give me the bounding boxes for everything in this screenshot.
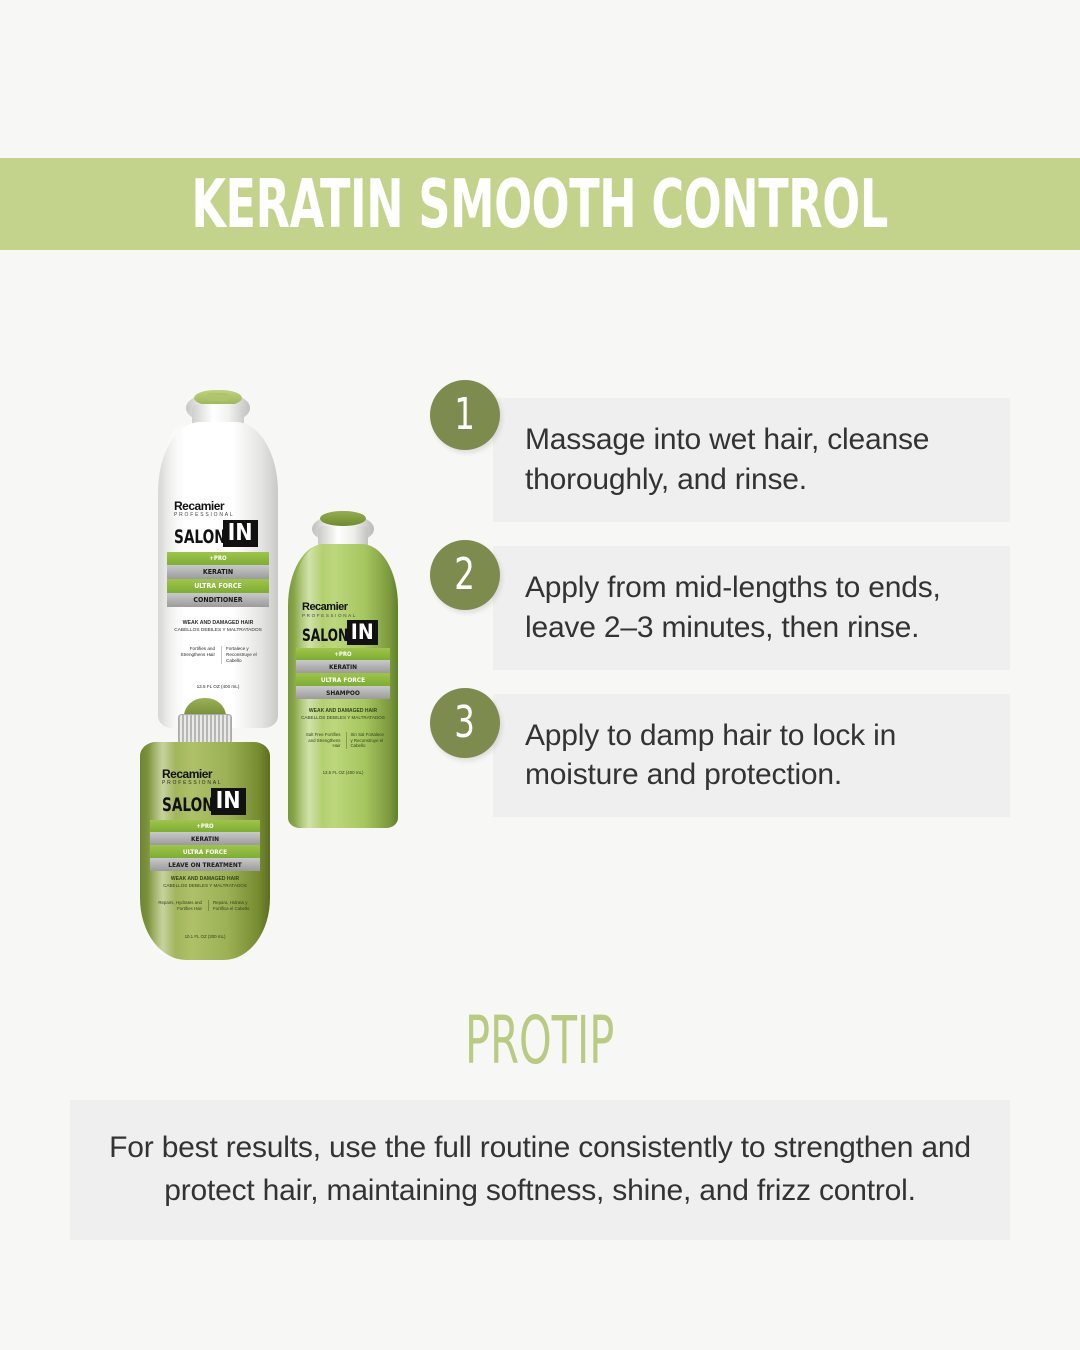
bottle-bar-ultraforce-treatment: ULTRA FORCE: [150, 845, 260, 858]
page-title: KERATIN SMOOTH CONTROL: [192, 171, 889, 238]
bottle-wordmark-in-treatment: IN: [211, 788, 246, 815]
step-item-1: 1 Massage into wet hair, cleanse thoroug…: [430, 398, 1010, 522]
product-bottle-leave-on-treatment: Recamier PROFESSIONAL SALON IN +PRO KERA…: [140, 698, 270, 960]
bottle-volume-conditioner: 13.5 FL OZ (400 mL): [158, 684, 278, 690]
product-bottle-shampoo: Recamier PROFESSIONAL SALON IN +PRO KERA…: [288, 508, 398, 828]
bottle-benefit-en-shampoo: Salt Free Fortifies and Strengthens Hair: [301, 732, 341, 749]
bottle-bar-type-conditioner: CONDITIONER: [167, 593, 269, 607]
bottle-bar-type-shampoo: SHAMPOO: [296, 686, 390, 699]
bottle-bar-keratin-shampoo: KERATIN: [296, 660, 390, 673]
bottle-benefit-es-shampoo: Sin Sal Fortalece y Reconstruye el Cabel…: [346, 732, 386, 749]
bottle-benefit-es-treatment: Repara, Hidrata y Fortifica el Cabello: [208, 900, 254, 911]
bottle-volume-shampoo: 13.5 FL OZ (400 mL): [288, 770, 398, 776]
bottle-volume-treatment: 10.1 FL OZ (300 mL): [140, 934, 270, 940]
bottle-wordmark-in-shampoo: IN: [347, 620, 378, 645]
step-number-2: 2: [455, 553, 476, 597]
bottle-collar-treatment: [178, 714, 232, 744]
step-number-badge-2: 2: [430, 540, 500, 610]
bottle-brand-conditioner: Recamier: [174, 500, 278, 512]
protip-heading: PROTIP: [0, 1008, 1080, 1074]
bottle-body-conditioner: Recamier PROFESSIONAL SALON IN +PRO KERA…: [158, 422, 278, 728]
protip-box: For best results, use the full routine c…: [70, 1100, 1010, 1240]
bottle-claim-en-conditioner: WEAK AND DAMAGED HAIR: [158, 620, 278, 627]
bottle-brand-treatment: Recamier: [162, 768, 270, 780]
bottle-brand-sub-conditioner: PROFESSIONAL: [174, 513, 278, 518]
bottle-benefit-es-conditioner: Fortalece y Reconstruye el Cabello: [221, 646, 265, 664]
bottle-wordmark-salon-shampoo: SALON: [302, 628, 348, 645]
bottle-claim-en-shampoo: WEAK AND DAMAGED HAIR: [288, 708, 398, 714]
bottle-wordmark-in-conditioner: IN: [223, 520, 258, 547]
step-item-3: 3 Apply to damp hair to lock in moisture…: [430, 694, 1010, 818]
bottle-bar-ultraforce-shampoo: ULTRA FORCE: [296, 673, 390, 686]
step-number-3: 3: [455, 701, 476, 745]
bottle-benefit-en-treatment: Repairs, Hydrates and Fortifies Hair: [156, 900, 202, 911]
bottle-bar-pro-conditioner: +PRO: [167, 552, 269, 565]
bottle-brand-sub-shampoo: PROFESSIONAL: [302, 614, 398, 619]
bottle-claim-es-conditioner: CABELLOS DEBILES Y MALTRATADOS: [158, 628, 278, 634]
step-text-box-3: Apply to damp hair to lock in moisture a…: [493, 694, 1010, 818]
bottle-bar-keratin-treatment: KERATIN: [150, 832, 260, 845]
protip-heading-text: PROTIP: [465, 1008, 614, 1074]
step-text-1: Massage into wet hair, cleanse thoroughl…: [525, 420, 984, 500]
step-number-1: 1: [455, 393, 476, 437]
bottle-benefit-en-conditioner: Fortifies and Strengthens Hair: [171, 646, 215, 664]
product-bottle-conditioner: Recamier PROFESSIONAL SALON IN +PRO KERA…: [158, 388, 278, 728]
protip-text: For best results, use the full routine c…: [70, 1127, 1010, 1212]
step-number-badge-3: 3: [430, 688, 500, 758]
header-banner: KERATIN SMOOTH CONTROL: [0, 158, 1080, 250]
bottle-wordmark-salon-conditioner: SALON: [174, 528, 226, 547]
bottle-claim-es-shampoo: CABELLOS DEBILES Y MALTRATADOS: [288, 715, 398, 721]
bottle-claim-es-treatment: CABELLOS DEBILES Y MALTRATADOS: [140, 883, 270, 889]
bottle-brand-shampoo: Recamier: [302, 602, 398, 613]
bottle-brand-sub-treatment: PROFESSIONAL: [162, 781, 270, 786]
bottle-bar-type-treatment: LEAVE ON TREATMENT: [150, 858, 260, 871]
step-number-badge-1: 1: [430, 380, 500, 450]
bottle-claim-en-treatment: WEAK AND DAMAGED HAIR: [140, 876, 270, 882]
step-text-box-2: Apply from mid-lengths to ends, leave 2–…: [493, 546, 1010, 670]
bottle-wordmark-salon-treatment: SALON: [162, 796, 214, 815]
bottle-body-treatment: Recamier PROFESSIONAL SALON IN +PRO KERA…: [140, 742, 270, 960]
bottle-cap-top-shampoo: [320, 511, 366, 526]
step-text-box-1: Massage into wet hair, cleanse thoroughl…: [493, 398, 1010, 522]
step-item-2: 2 Apply from mid-lengths to ends, leave …: [430, 546, 1010, 670]
step-text-3: Apply to damp hair to lock in moisture a…: [525, 716, 984, 796]
bottle-bar-pro-treatment: +PRO: [150, 820, 260, 832]
bottle-body-shampoo: Recamier PROFESSIONAL SALON IN +PRO KERA…: [288, 544, 398, 828]
bottle-bar-keratin-conditioner: KERATIN: [167, 565, 269, 579]
steps-list: 1 Massage into wet hair, cleanse thoroug…: [430, 398, 1010, 841]
step-text-2: Apply from mid-lengths to ends, leave 2–…: [525, 568, 984, 648]
bottle-bar-ultraforce-conditioner: ULTRA FORCE: [167, 579, 269, 593]
product-image-group: Recamier PROFESSIONAL SALON IN +PRO KERA…: [120, 380, 440, 960]
bottle-bar-pro-shampoo: +PRO: [296, 648, 390, 660]
